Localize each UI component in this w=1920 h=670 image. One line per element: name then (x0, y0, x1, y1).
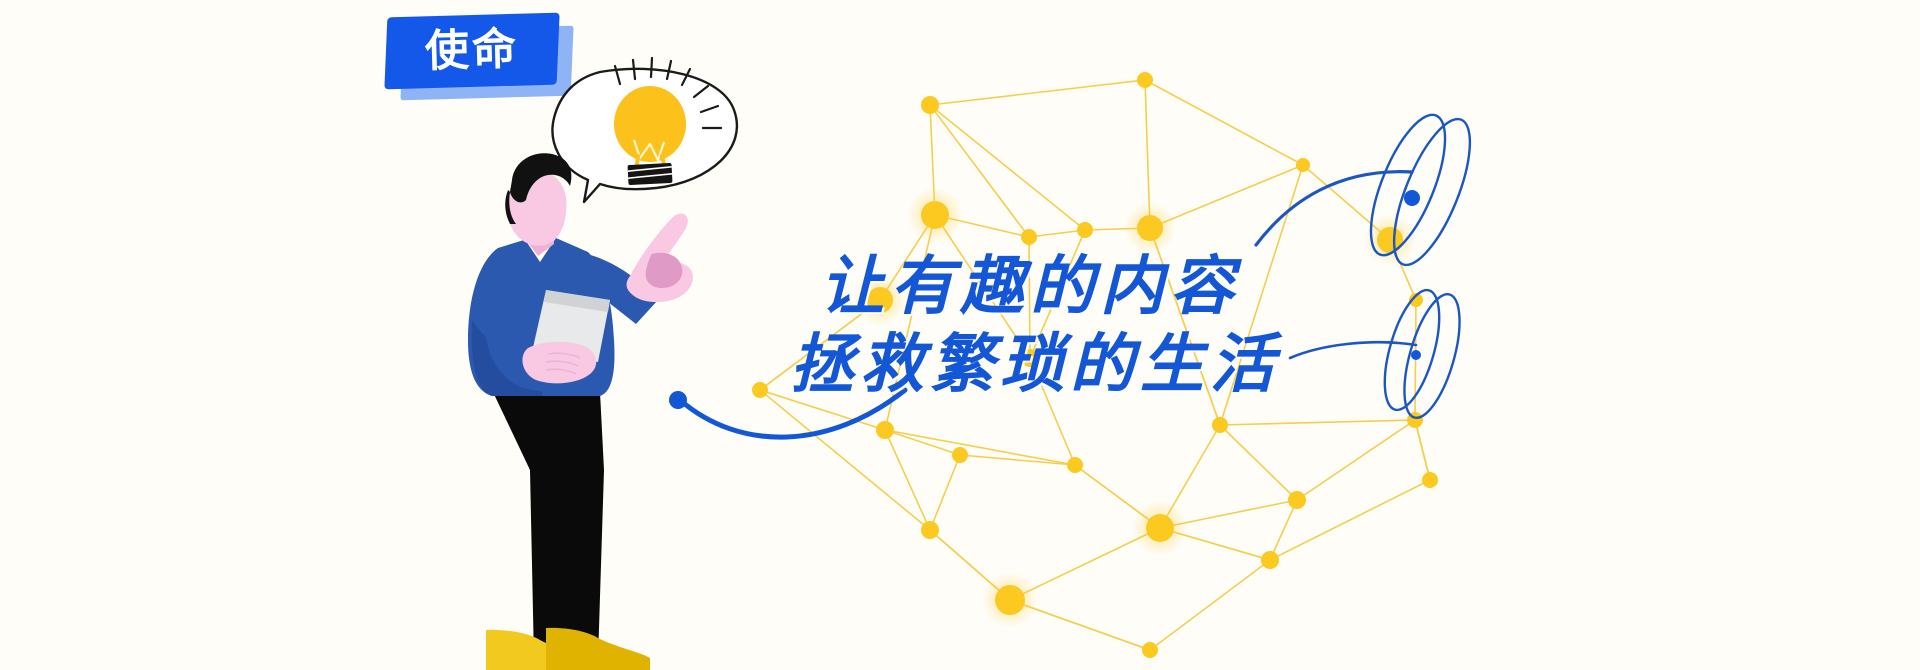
headline-line-2: 拯救繁琐的生活 (790, 326, 1280, 404)
character-holding-hand (522, 342, 596, 384)
idea-speech-bubble (552, 58, 736, 202)
mission-banner: 使命 让有趣的内容 拯救繁琐的生活 (0, 0, 1920, 670)
lightbulb-icon (614, 86, 686, 162)
headline-line-1: 让有趣的内容 (820, 248, 1280, 326)
headline-block: 让有趣的内容 拯救繁琐的生活 (820, 248, 1280, 404)
character-hand-shadow (646, 253, 683, 288)
